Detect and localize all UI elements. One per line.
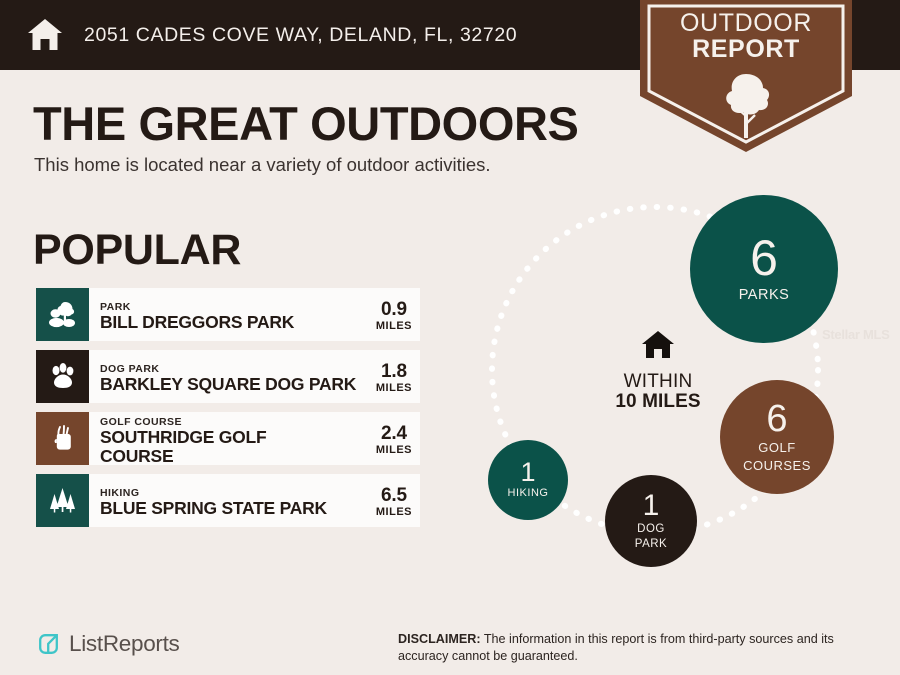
- mls-watermark: Stellar MLS: [822, 327, 890, 342]
- poi-icon-box: [36, 288, 89, 341]
- list-item[interactable]: DOG PARK BARKLEY SQUARE DOG PARK 1.8 MIL…: [36, 350, 420, 403]
- list-item[interactable]: HIKING BLUE SPRING STATE PARK 6.5 MILES: [36, 474, 420, 527]
- pine-trees-icon: [47, 485, 78, 516]
- popular-section-heading: POPULAR: [33, 226, 241, 275]
- poi-body: GOLF COURSE SOUTHRIDGE GOLF COURSE 2.4 M…: [89, 412, 420, 465]
- poi-body: PARK BILL DREGGORS PARK 0.9 MILES: [89, 288, 420, 341]
- poi-distance-value: 6.5: [376, 486, 412, 506]
- poi-icon-box: [36, 412, 89, 465]
- page-subtitle: This home is located near a variety of o…: [34, 154, 491, 176]
- disclaimer: DISCLAIMER: The information in this repo…: [398, 631, 868, 664]
- poi-distance-value: 0.9: [376, 300, 412, 320]
- diagram-center: WITHIN 10 MILES: [583, 330, 733, 413]
- bubble-parks-count: 6: [750, 235, 778, 283]
- poi-name: BILL DREGGORS PARK: [100, 313, 369, 332]
- diagram-center-miles: 10 MILES: [583, 392, 733, 413]
- bubble-golf-label-line2: COURSES: [743, 459, 811, 473]
- poi-body: HIKING BLUE SPRING STATE PARK 6.5 MILES: [89, 474, 420, 527]
- poi-distance: 6.5 MILES: [369, 483, 412, 518]
- outdoor-report-badge: OUTDOOR REPORT: [640, 0, 852, 152]
- poi-distance-unit: MILES: [376, 382, 412, 394]
- poi-body: DOG PARK BARKLEY SQUARE DOG PARK 1.8 MIL…: [89, 350, 420, 403]
- listreports-logo-text: ListReports: [69, 631, 180, 657]
- poi-icon-box: [36, 474, 89, 527]
- park-tree-icon: [47, 299, 78, 330]
- bubble-dog-park-count: 1: [643, 492, 660, 521]
- bubble-golf-courses[interactable]: 6 GOLF COURSES: [720, 380, 834, 494]
- bubble-dog-park-label-line2: PARK: [635, 538, 667, 550]
- poi-distance-value: 1.8: [376, 362, 412, 382]
- within-10-miles-diagram: 6 PARKS 6 GOLF COURSES 1 DOG PARK 1 HIKI…: [455, 185, 885, 585]
- bubble-dog-park-label-line1: DOG: [637, 523, 665, 535]
- home-icon: [641, 330, 675, 360]
- diagram-center-within: WITHIN: [583, 372, 733, 392]
- poi-distance: 0.9 MILES: [369, 297, 412, 332]
- paw-icon: [47, 361, 78, 392]
- list-item[interactable]: PARK BILL DREGGORS PARK 0.9 MILES: [36, 288, 420, 341]
- poi-icon-box: [36, 350, 89, 403]
- poi-distance: 1.8 MILES: [369, 359, 412, 394]
- outdoor-report-page: 2051 CADES COVE WAY, DELAND, FL, 32720 O…: [0, 0, 900, 675]
- bubble-hiking[interactable]: 1 HIKING: [488, 440, 568, 520]
- bubble-parks-label: PARKS: [739, 288, 790, 303]
- poi-name: SOUTHRIDGE GOLF COURSE: [100, 428, 310, 465]
- home-icon: [26, 16, 64, 54]
- page-title: THE GREAT OUTDOORS: [33, 96, 579, 151]
- bubble-parks[interactable]: 6 PARKS: [690, 195, 838, 343]
- poi-distance-value: 2.4: [376, 424, 412, 444]
- poi-distance-unit: MILES: [376, 506, 412, 518]
- poi-text: GOLF COURSE SOUTHRIDGE GOLF COURSE: [100, 412, 369, 465]
- poi-distance-unit: MILES: [376, 320, 412, 332]
- poi-text: PARK BILL DREGGORS PARK: [100, 297, 369, 332]
- disclaimer-label: DISCLAIMER:: [398, 632, 481, 646]
- poi-distance-unit: MILES: [376, 444, 412, 456]
- poi-text: DOG PARK BARKLEY SQUARE DOG PARK: [100, 359, 369, 394]
- poi-distance: 2.4 MILES: [369, 421, 412, 456]
- golf-bag-icon: [47, 423, 78, 454]
- poi-name: BARKLEY SQUARE DOG PARK: [100, 375, 369, 394]
- popular-list: PARK BILL DREGGORS PARK 0.9 MILES: [36, 288, 420, 536]
- listreports-house-icon: [36, 631, 61, 657]
- listreports-logo[interactable]: ListReports: [36, 631, 180, 657]
- property-address: 2051 CADES COVE WAY, DELAND, FL, 32720: [84, 24, 517, 47]
- bubble-hiking-label: HIKING: [508, 488, 549, 500]
- poi-text: HIKING BLUE SPRING STATE PARK: [100, 483, 369, 518]
- bubble-hiking-count: 1: [520, 460, 535, 486]
- bubble-golf-count: 6: [766, 401, 787, 437]
- poi-name: BLUE SPRING STATE PARK: [100, 499, 369, 518]
- bubble-dog-park[interactable]: 1 DOG PARK: [605, 475, 697, 567]
- bubble-golf-label-line1: GOLF: [758, 441, 795, 455]
- list-item[interactable]: GOLF COURSE SOUTHRIDGE GOLF COURSE 2.4 M…: [36, 412, 420, 465]
